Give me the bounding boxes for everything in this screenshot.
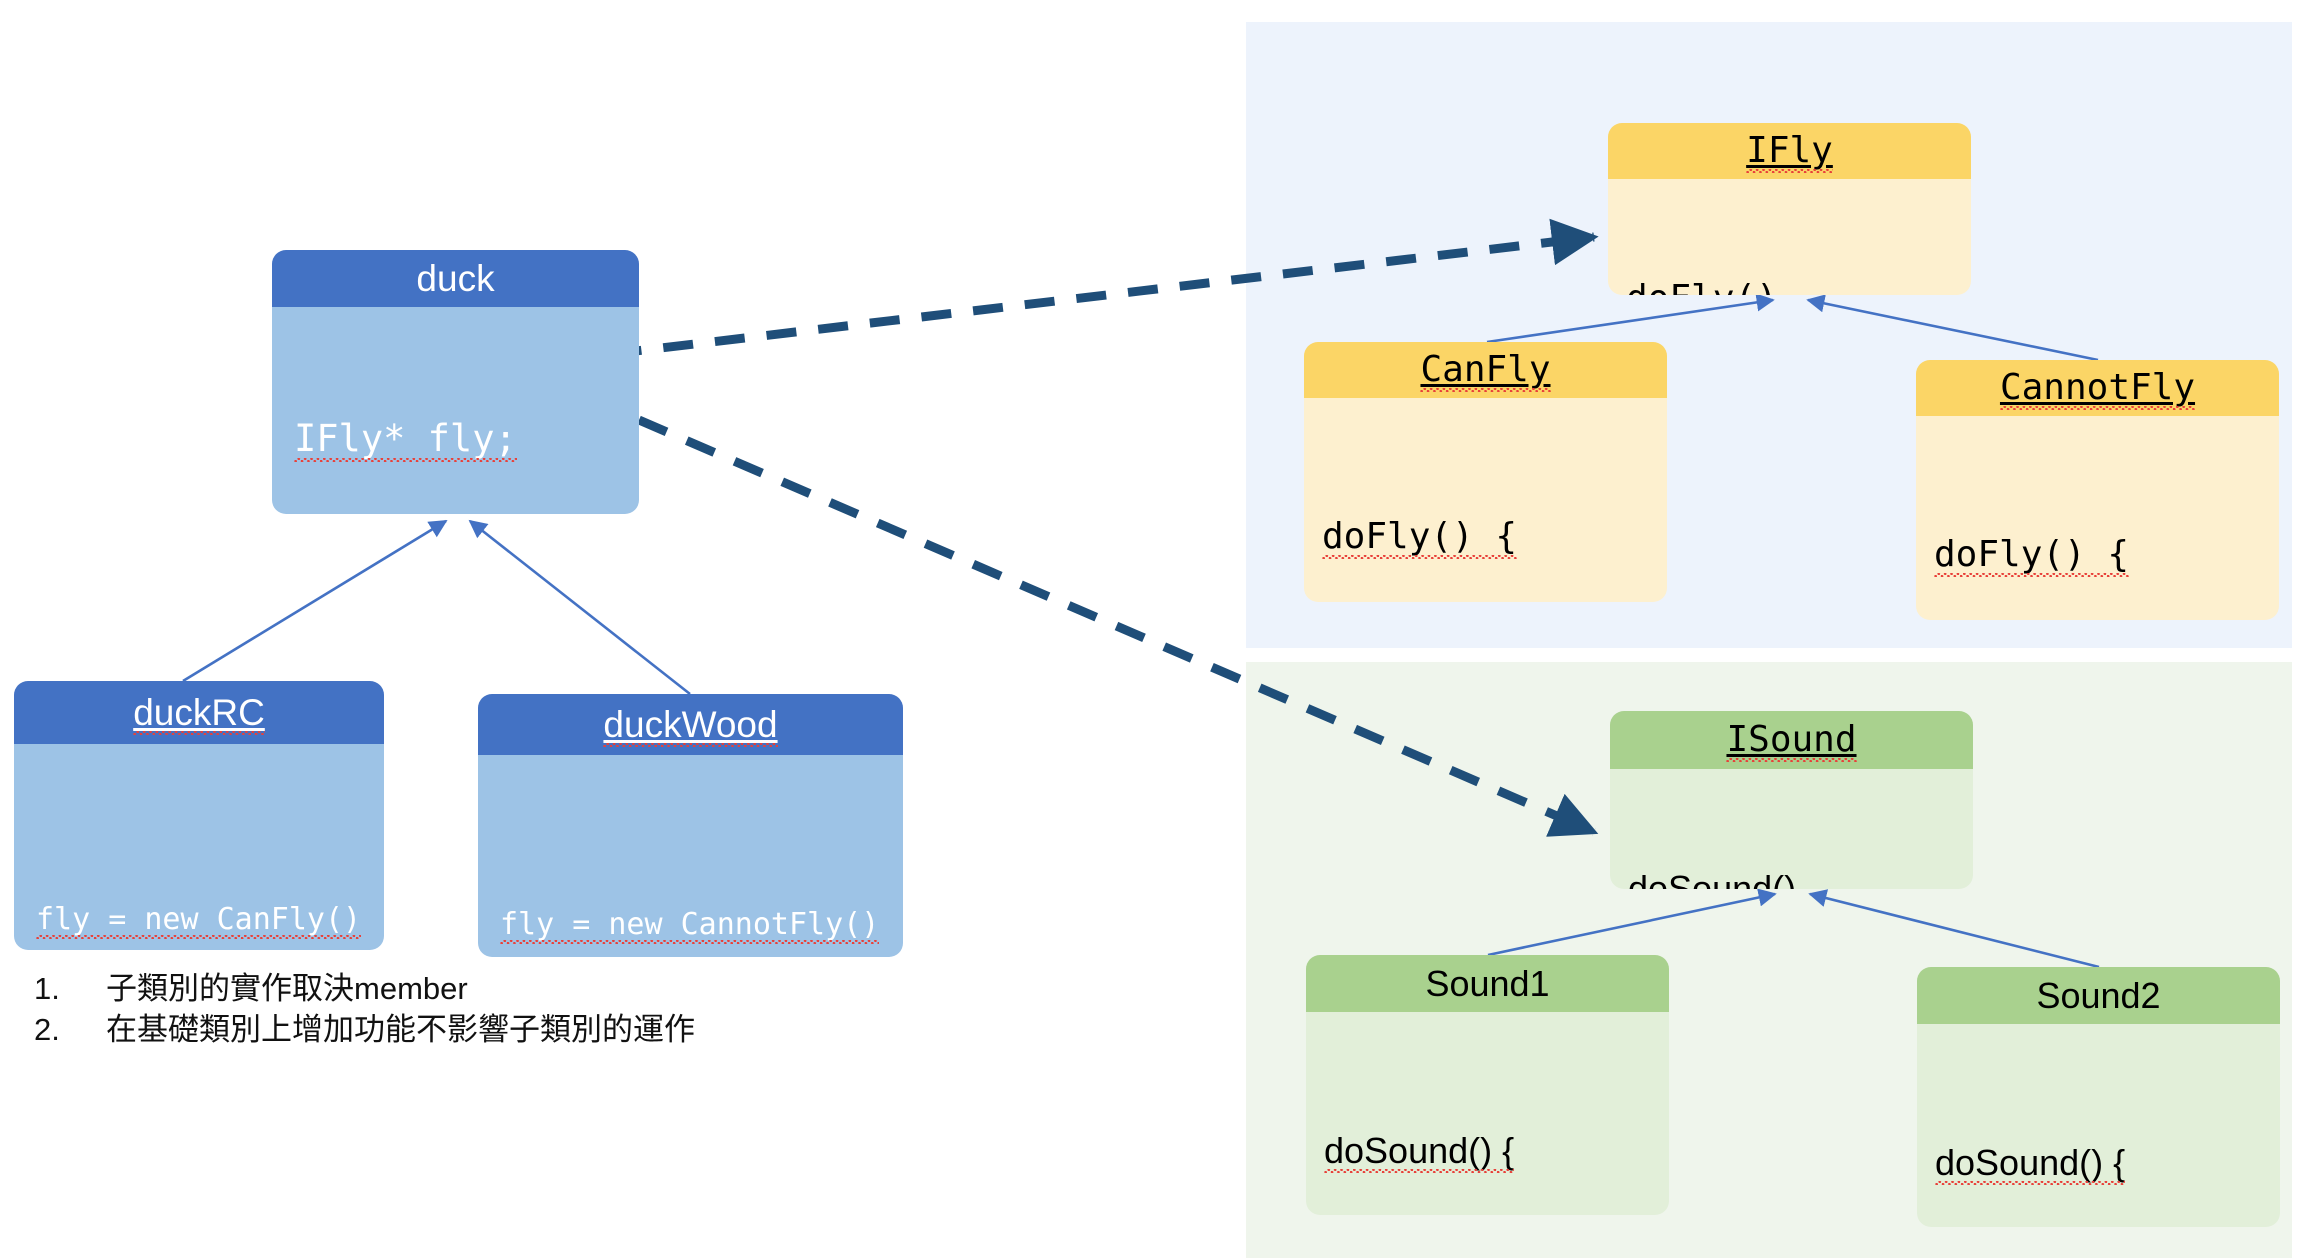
class-header-canfly: CanFly xyxy=(1304,342,1667,398)
class-body-isound: doSound() … xyxy=(1610,769,1973,889)
diagram-canvas: duck --> IFly --> ISound --> duck IFly* … xyxy=(0,0,2318,1258)
class-box-duck[interactable]: duck IFly* fly; Isound* sound; … xyxy=(272,250,639,514)
member-row: doSound() xyxy=(1628,867,1973,889)
member-text: doSound() { xyxy=(1324,1130,1514,1171)
class-header-duck: duck xyxy=(272,250,639,307)
edge-cannotfly-to-ifly xyxy=(1808,300,2098,360)
edge-canfly-to-ifly xyxy=(1487,300,1773,342)
member-text: doFly() { xyxy=(1934,534,2129,575)
class-box-duckrc[interactable]: duckRC fly = new CanFly() xyxy=(14,681,384,950)
edge-duckwood-to-duck xyxy=(470,521,690,694)
list-item-text: 子類別的實作取決member xyxy=(106,969,854,1010)
class-header-ifly: IFly xyxy=(1608,123,1971,179)
member-row: doSound() { xyxy=(1935,1140,2280,1186)
member-text: doFly() xyxy=(1626,278,1778,295)
list-item: 2. 在基礎類別上增加功能不影響子類別的運作 xyxy=(34,1010,854,1051)
member-text: doSound() { xyxy=(1935,1142,2125,1183)
class-body-canfly: doFly() { “Can fly” } xyxy=(1304,398,1667,602)
class-title-sound2: Sound2 xyxy=(2036,975,2160,1016)
class-box-sound2[interactable]: Sound2 doSound() { “Sound2” } xyxy=(1917,967,2280,1227)
class-title-canfly: CanFly xyxy=(1420,349,1550,390)
class-body-sound1: doSound() { “Sound1” } xyxy=(1306,1012,1669,1215)
class-box-duckwood[interactable]: duckWood fly = new CannotFly() xyxy=(478,694,903,957)
class-body-sound2: doSound() { “Sound2” } xyxy=(1917,1024,2280,1227)
list-item-text: 在基礎類別上增加功能不影響子類別的運作 xyxy=(106,1010,854,1051)
member-row: IFly* fly; xyxy=(294,416,639,462)
class-title-isound: ISound xyxy=(1726,719,1856,760)
edge-sound2-to-isound xyxy=(1810,894,2099,967)
class-title-ifly: IFly xyxy=(1746,130,1833,171)
class-title-sound1: Sound1 xyxy=(1425,963,1549,1004)
class-box-sound1[interactable]: Sound1 doSound() { “Sound1” } xyxy=(1306,955,1669,1215)
class-box-canfly[interactable]: CanFly doFly() { “Can fly” } xyxy=(1304,342,1667,602)
member-text: fly = new CannotFly() xyxy=(500,907,879,942)
list-item-number: 1. xyxy=(34,969,106,1010)
class-header-sound2: Sound2 xyxy=(1917,967,2280,1024)
member-row: doFly() xyxy=(1626,277,1971,295)
class-box-ifly[interactable]: IFly doFly() … xyxy=(1608,123,1971,295)
class-header-isound: ISound xyxy=(1610,711,1973,769)
member-row: fly = new CanFly() xyxy=(36,902,384,938)
member-text: doFly() { xyxy=(1322,516,1517,557)
class-body-duck: IFly* fly; Isound* sound; … xyxy=(272,307,639,514)
member-text: IFly* fly; xyxy=(294,417,517,460)
class-body-duckwood: fly = new CannotFly() xyxy=(478,755,903,957)
member-row: fly = new CannotFly() xyxy=(500,907,903,943)
class-header-cannotfly: CannotFly xyxy=(1916,360,2279,416)
class-body-duckrc: fly = new CanFly() xyxy=(14,744,384,950)
class-title-duckrc: duckRC xyxy=(133,692,265,733)
member-text: fly = new CanFly() xyxy=(36,902,361,937)
member-row: doFly() { xyxy=(1322,514,1667,560)
member-row: doFly() { xyxy=(1934,532,2279,578)
class-header-duckrc: duckRC xyxy=(14,681,384,744)
edge-sound1-to-isound xyxy=(1488,894,1775,955)
class-header-sound1: Sound1 xyxy=(1306,955,1669,1012)
class-body-cannotfly: doFly() { “Cannot fly” } xyxy=(1916,416,2279,620)
member-row: doSound() { xyxy=(1324,1128,1669,1174)
class-body-ifly: doFly() … xyxy=(1608,179,1971,295)
class-title-cannotfly: CannotFly xyxy=(2000,367,2195,408)
list-item-number: 2. xyxy=(34,1010,106,1051)
list-item: 1. 子類別的實作取決member xyxy=(34,969,854,1010)
edge-duckrc-to-duck xyxy=(183,521,446,681)
member-text: doSound() xyxy=(1628,868,1796,889)
class-box-cannotfly[interactable]: CannotFly doFly() { “Cannot fly” } xyxy=(1916,360,2279,620)
notes-list: 1. 子類別的實作取決member 2. 在基礎類別上增加功能不影響子類別的運作 xyxy=(34,969,854,1051)
class-box-isound[interactable]: ISound doSound() … xyxy=(1610,711,1973,889)
class-header-duckwood: duckWood xyxy=(478,694,903,755)
class-title-duck: duck xyxy=(416,258,494,299)
class-title-duckwood: duckWood xyxy=(603,704,777,745)
